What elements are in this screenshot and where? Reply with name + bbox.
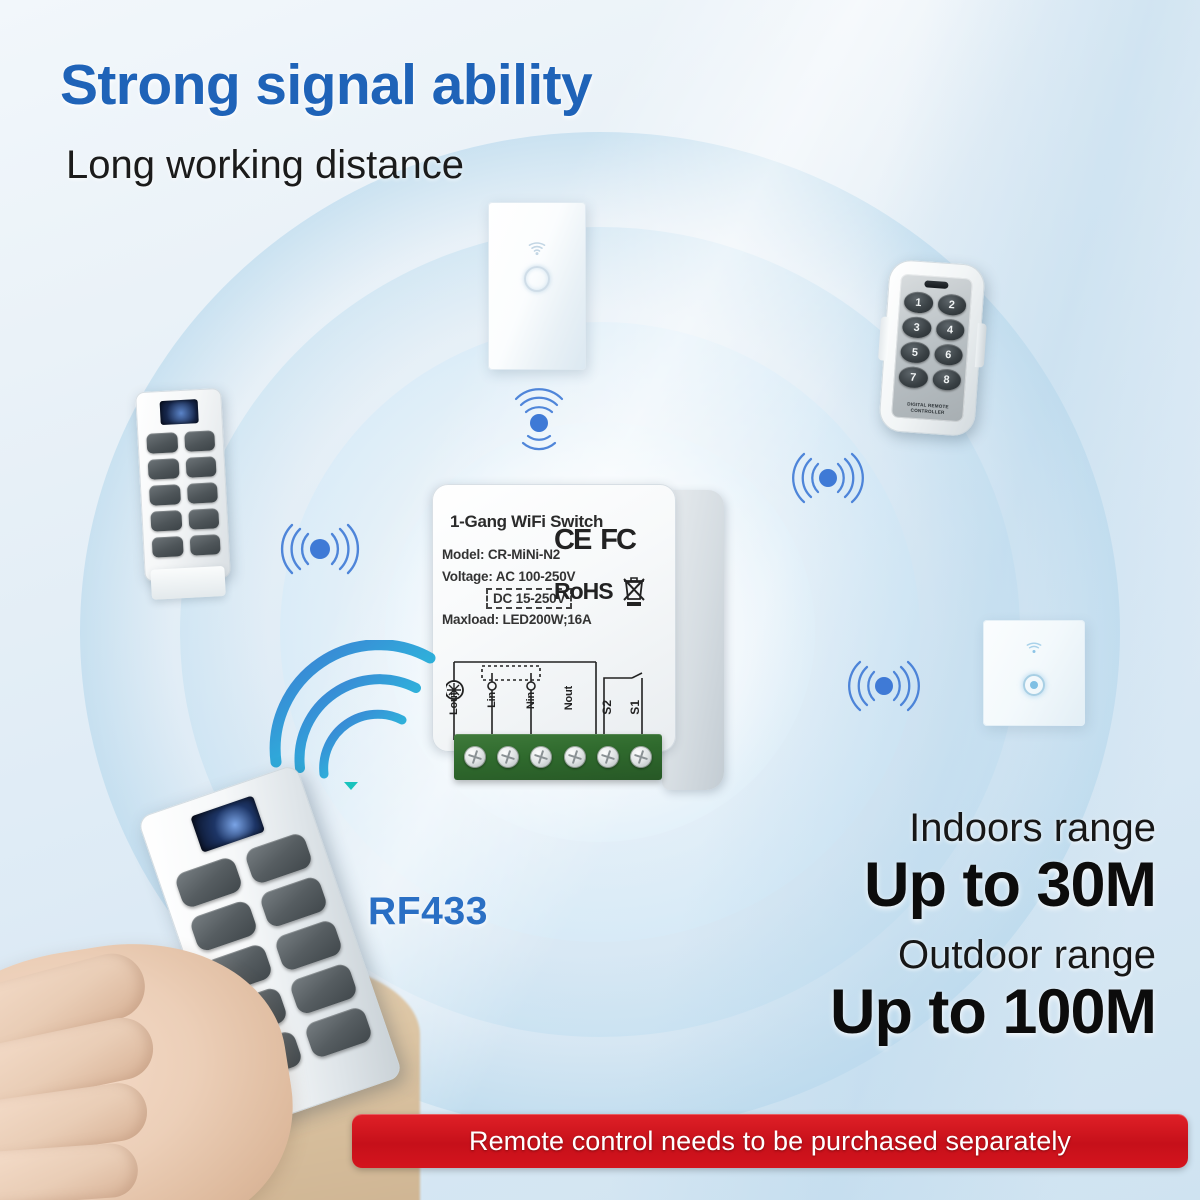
terminal-label-nin: Nin (525, 692, 537, 709)
wifi-switch-module: 1-Gang WiFi Switch Model: CR-MiNi-N2 Vol… (432, 484, 724, 800)
remote-key-4[interactable]: 4 (935, 318, 965, 341)
terminal-label-s1: S1 (628, 700, 642, 715)
remote-key[interactable] (288, 962, 358, 1016)
touch-button[interactable] (1023, 674, 1045, 696)
purchase-note-text: Remote control needs to be purchased sep… (469, 1126, 1071, 1157)
remote-key[interactable] (258, 875, 328, 929)
terminal-label-s2: S2 (600, 700, 614, 715)
outdoor-range-value: Up to 100M (636, 978, 1156, 1046)
terminal-screw (497, 746, 519, 768)
remote-key[interactable] (184, 430, 216, 452)
page-title: Strong signal ability (60, 52, 592, 118)
remote-key[interactable] (152, 536, 184, 558)
remote-key[interactable] (188, 899, 258, 953)
certification-marks: CE FC RoHS (554, 526, 670, 607)
terminal-screw (464, 746, 486, 768)
remote-caption: DIGITAL REMOTE CONTROLLER (891, 400, 964, 418)
remote-key-1[interactable]: 1 (903, 291, 933, 314)
wiring-diagram (446, 652, 661, 744)
remote-key-6[interactable]: 6 (933, 343, 963, 366)
terminal-screw (597, 746, 619, 768)
remote-key[interactable] (146, 432, 178, 454)
remote-key-7[interactable]: 7 (898, 366, 928, 389)
remote-key-5[interactable]: 5 (900, 341, 930, 364)
weee-crossed-bin-icon (621, 575, 647, 607)
remote-keypad: 1 2 3 4 5 6 7 8 (898, 291, 967, 391)
remote-key-8[interactable]: 8 (932, 368, 962, 391)
remote-key-3[interactable]: 3 (902, 316, 932, 339)
indoor-range-label: Indoors range (636, 806, 1156, 851)
remote-key[interactable] (185, 456, 217, 478)
terminal-label-lout: Lout (448, 692, 460, 715)
remote-base (150, 566, 225, 600)
remote-control-numbered[interactable]: 1 2 3 4 5 6 7 8 DIGITAL REMOTE CONTROLLE… (878, 259, 986, 437)
remote-key[interactable] (273, 918, 343, 972)
terminal-label-lin: Lin (486, 692, 498, 708)
wall-touch-panel-right (983, 620, 1085, 726)
touch-button[interactable] (524, 266, 550, 292)
wifi-icon (1026, 642, 1042, 655)
terminal-block (454, 734, 662, 780)
remote-key[interactable] (186, 482, 218, 504)
ir-emitter-icon (924, 280, 948, 289)
product-marketing-banner: Strong signal ability Long working dista… (0, 0, 1200, 1200)
remote-led-window (160, 399, 199, 425)
remote-faceplate: 1 2 3 4 5 6 7 8 DIGITAL REMOTE CONTROLLE… (891, 274, 973, 423)
remote-control-left[interactable] (135, 388, 231, 582)
rohs-mark-icon: RoHS (554, 580, 613, 603)
remote-key[interactable] (148, 458, 180, 480)
wifi-icon (528, 242, 546, 256)
terminal-screw (630, 746, 652, 768)
remote-keypad (146, 430, 220, 557)
page-subtitle: Long working distance (66, 143, 464, 188)
remote-key-2[interactable]: 2 (937, 293, 967, 316)
remote-key[interactable] (188, 508, 220, 530)
terminal-screw (564, 746, 586, 768)
fcc-mark-icon: FC (600, 526, 635, 555)
indoor-range-value: Up to 30M (636, 851, 1156, 919)
remote-key[interactable] (189, 534, 221, 556)
purchase-note-banner: Remote control needs to be purchased sep… (352, 1114, 1188, 1168)
range-specs: Indoors range Up to 30M Outdoor range Up… (636, 806, 1156, 1046)
remote-key[interactable] (150, 510, 182, 532)
terminal-label-nout: Nout (563, 686, 575, 710)
remote-key[interactable] (149, 484, 181, 506)
wall-touch-panel-top (488, 202, 586, 370)
finger (0, 1142, 140, 1200)
terminal-screw (530, 746, 552, 768)
outdoor-range-label: Outdoor range (636, 933, 1156, 978)
protocol-label: RF433 (368, 890, 488, 934)
device-front-label: 1-Gang WiFi Switch Model: CR-MiNi-N2 Vol… (432, 484, 676, 752)
device-spec-maxload: Maxload: LED200W;16A (442, 609, 592, 631)
ce-mark-icon: CE (554, 526, 590, 555)
